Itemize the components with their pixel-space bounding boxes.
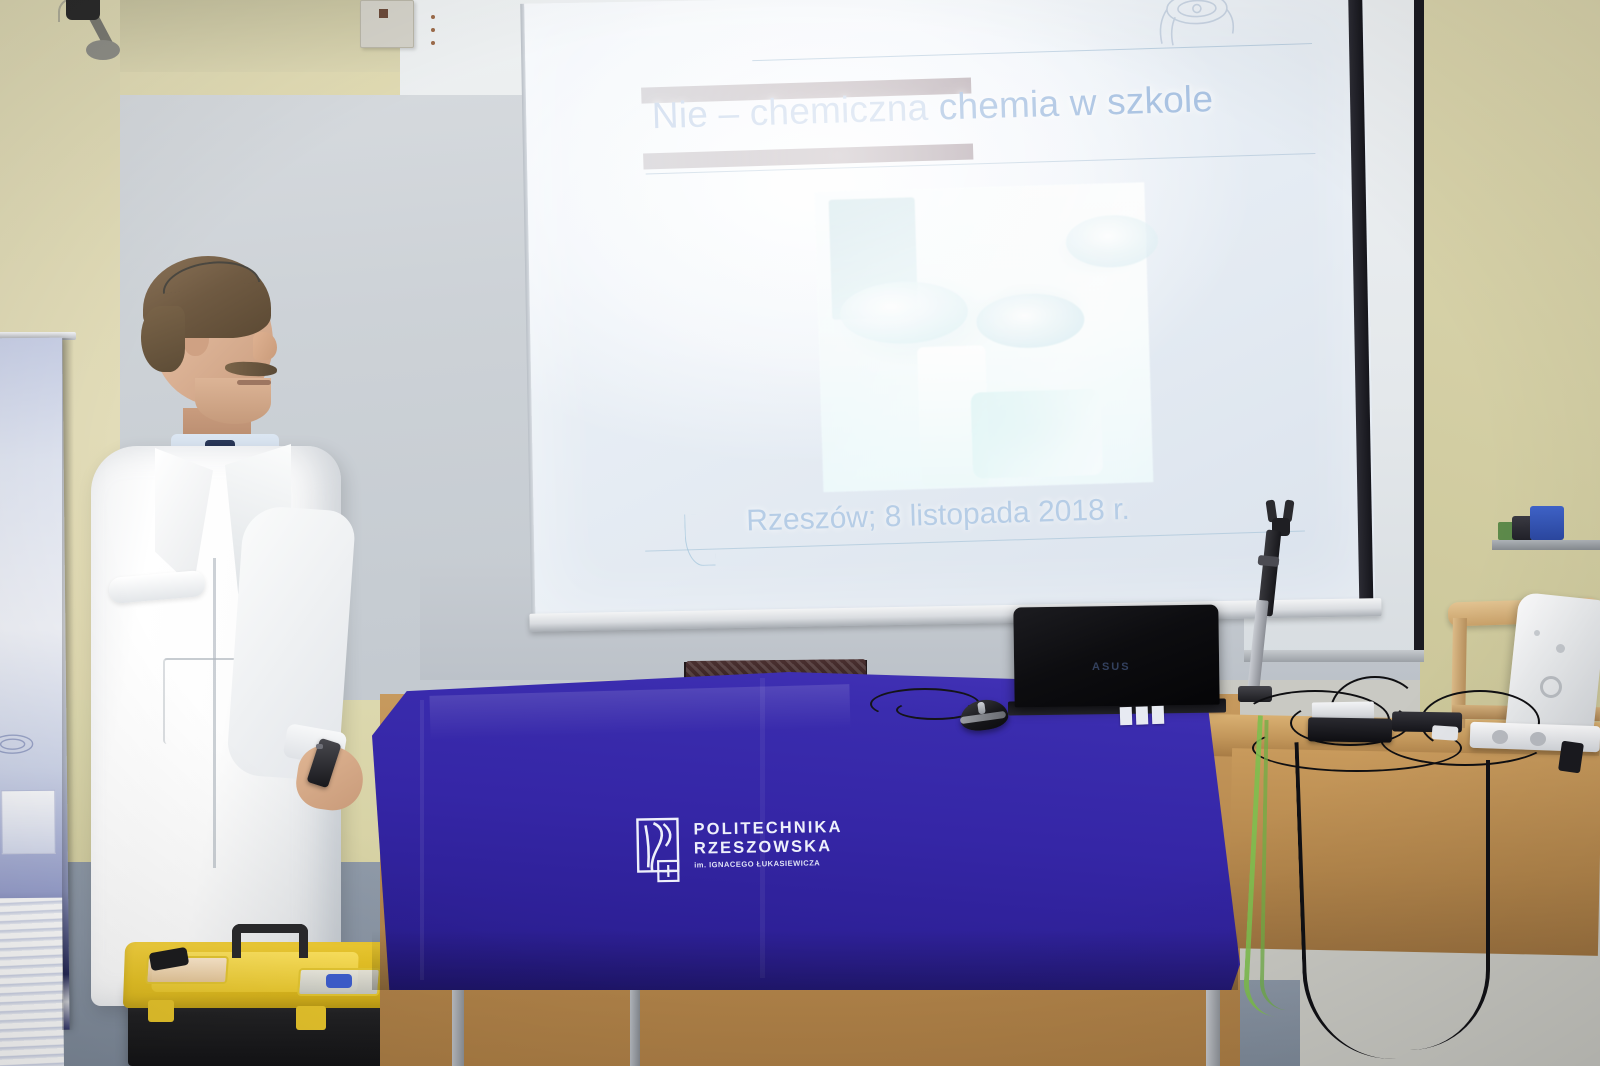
laptop-brand-label: ASUS	[1092, 661, 1131, 673]
presenter-mouth	[237, 380, 271, 385]
photo-dish-right	[976, 292, 1086, 349]
mouse-scroll-wheel[interactable]	[977, 702, 986, 715]
tablecloth-shadow	[372, 930, 1238, 990]
slide-date: Rzeszów; 8 listopada 2018 r.	[746, 489, 1267, 539]
banner-paper-stack-graphic	[0, 898, 64, 1066]
screen-surface: Nie – chemiczna chemia w szkole Rzeszów;…	[524, 0, 1375, 626]
banner-logo-icon	[0, 726, 51, 773]
power-socket-2[interactable]	[1530, 732, 1546, 746]
equipment-indicator	[1556, 644, 1565, 653]
wall-shelf	[1492, 540, 1600, 550]
logo-line-1: POLITECHNIKA	[693, 818, 819, 839]
power-socket-1[interactable]	[1492, 730, 1508, 744]
remote-button[interactable]	[316, 744, 323, 749]
name-cards	[1120, 705, 1195, 728]
slide-title-bold: chemia w szkole	[938, 78, 1214, 127]
shelf-container-blue	[1530, 506, 1564, 540]
slide-footer-rule	[645, 531, 1305, 552]
projection-screen: Nie – chemiczna chemia w szkole Rzeszów;…	[524, 0, 1376, 644]
presenter-nose	[253, 332, 277, 360]
presenter-hair-side	[141, 306, 185, 372]
toolbox-blue-item	[326, 974, 352, 988]
whiteboard-frame-right	[1414, 0, 1424, 660]
university-logo-text: POLITECHNIKA RZESZOWSKA im. IGNACEGO ŁUK…	[693, 818, 820, 870]
camera-body	[66, 0, 100, 20]
photo-cloth	[971, 389, 1104, 479]
wall-speaker-icon	[360, 0, 414, 48]
toolbox-latch-right[interactable]	[296, 1006, 326, 1030]
equipment-dial[interactable]	[1540, 676, 1562, 698]
tripod-head[interactable]	[1267, 500, 1295, 534]
university-logo: POLITECHNIKA RZESZOWSKA im. IGNACEGO ŁUK…	[635, 814, 816, 893]
toolbox-handle[interactable]	[232, 924, 308, 958]
laptop[interactable]	[1013, 605, 1219, 708]
roll-up-banner	[0, 338, 70, 1031]
wall-screws	[428, 6, 442, 46]
banner-shadow	[62, 338, 74, 1030]
tripod-lock-ring[interactable]	[1258, 555, 1280, 567]
lecture-hall-photo: Nie – chemiczna chemia w szkole Rzeszów;…	[0, 0, 1600, 1066]
whiteboard-tray	[1244, 650, 1424, 662]
slide-photo	[814, 182, 1153, 492]
banner-document-graphic	[1, 790, 56, 855]
politechnika-monogram-icon	[635, 817, 686, 884]
toolbox-latch-left[interactable]	[148, 1000, 174, 1022]
green-cable-secondary	[1259, 720, 1292, 1010]
slide-squiggle-mark	[684, 514, 716, 567]
presenter	[85, 258, 385, 998]
ceiling-camera-icon	[58, 0, 128, 52]
equipment-indicator-small	[1534, 630, 1540, 636]
logo-line-3: im. IGNACEGO ŁUKASIEWICZA	[694, 857, 820, 870]
logo-line-2: RZESZOWSKA	[694, 837, 820, 858]
speaker-indicator	[379, 9, 388, 18]
plug-white	[1432, 725, 1459, 741]
slide-title-faded: Nie – chemiczna	[651, 86, 939, 136]
presentation-slide: Nie – chemiczna chemia w szkole Rzeszów;…	[612, 25, 1328, 576]
floor-cable-right	[1340, 760, 1490, 1050]
slide-emblem-icon	[1140, 0, 1250, 60]
camera-ceiling-plate	[86, 40, 120, 60]
plug-black	[1558, 741, 1584, 774]
photo-dish-top	[1065, 214, 1159, 269]
